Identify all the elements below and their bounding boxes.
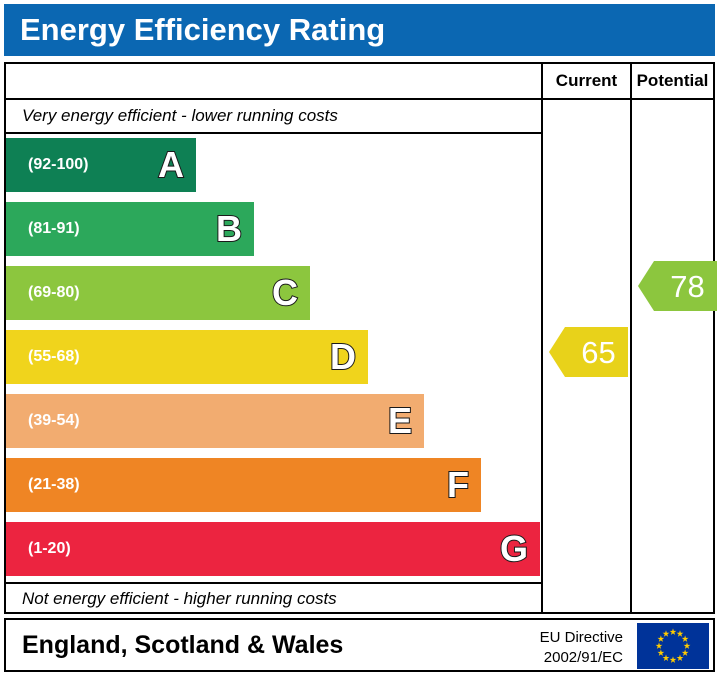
band-bars: (92-100)A(81-91)B(69-80)C(55-68)D(39-54)…: [6, 134, 541, 582]
caption-not-efficient: Not energy efficient - higher running co…: [6, 582, 541, 614]
title-bar: Energy Efficiency Rating: [4, 4, 715, 56]
band-letter-f: F: [447, 467, 469, 503]
band-bar-b: (81-91)B: [6, 202, 254, 256]
band-range-b: (81-91): [28, 220, 80, 238]
column-header-current: Current: [543, 71, 630, 91]
current-rating-badge: 65: [549, 320, 628, 384]
band-bar-a: (92-100)A: [6, 138, 196, 192]
footer-directive-line1: EU Directive: [540, 628, 623, 648]
band-range-d: (55-68): [28, 348, 80, 366]
band-letter-d: D: [330, 339, 356, 375]
caption-very-efficient: Very energy efficient - lower running co…: [6, 100, 541, 134]
eu-flag-icon: [637, 623, 709, 669]
band-range-f: (21-38): [28, 476, 80, 494]
band-letter-e: E: [388, 403, 412, 439]
potential-rating-badge: 78: [638, 254, 717, 318]
band-letter-g: G: [500, 531, 528, 567]
column-separator-current: [541, 64, 543, 612]
band-bar-f: (21-38)F: [6, 458, 481, 512]
band-bar-e: (39-54)E: [6, 394, 424, 448]
energy-efficiency-rating-chart: Energy Efficiency Rating Current Potenti…: [0, 0, 719, 676]
band-letter-a: A: [158, 147, 184, 183]
footer-directive-line2: 2002/91/EC: [540, 648, 623, 668]
band-range-g: (1-20): [28, 540, 71, 558]
band-bar-c: (69-80)C: [6, 266, 310, 320]
band-letter-b: B: [216, 211, 242, 247]
footer: England, Scotland & Wales EU Directive 2…: [4, 618, 715, 672]
footer-directive: EU Directive 2002/91/EC: [540, 628, 623, 669]
band-letter-c: C: [272, 275, 298, 311]
band-range-e: (39-54): [28, 412, 80, 430]
eu-flag-stars: [637, 623, 709, 669]
potential-rating-value: 78: [650, 271, 704, 302]
band-bar-g: (1-20)G: [6, 522, 540, 576]
band-range-a: (92-100): [28, 156, 88, 174]
footer-region-label: England, Scotland & Wales: [22, 631, 343, 660]
band-range-c: (69-80): [28, 284, 80, 302]
band-bar-d: (55-68)D: [6, 330, 368, 384]
column-header-potential: Potential: [632, 71, 713, 91]
rating-table: Current Potential Very energy efficient …: [4, 62, 715, 614]
column-separator-potential: [630, 64, 632, 612]
page-title: Energy Efficiency Rating: [20, 12, 385, 48]
current-rating-value: 65: [561, 337, 615, 368]
